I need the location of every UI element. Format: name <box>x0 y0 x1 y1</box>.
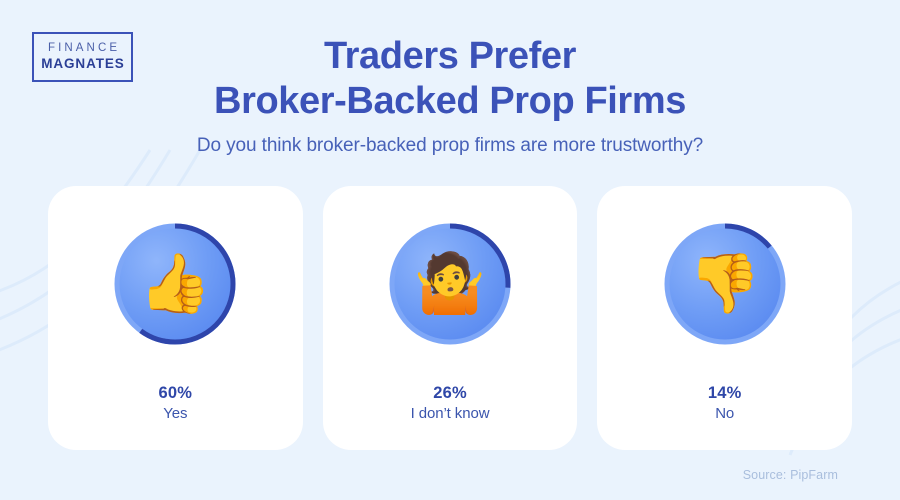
page-title-line-2: Broker-Backed Prop Firms <box>0 79 900 124</box>
thumbs-down-emoji: 👎 <box>660 219 790 349</box>
stat-label-no: No <box>597 404 852 424</box>
page-title-line-1: Traders Prefer <box>324 35 576 77</box>
stat-percent-i-dont-know: 26% <box>323 382 578 404</box>
stat-percent-no: 14% <box>597 382 852 404</box>
stat-text-no: 14% No <box>597 382 852 425</box>
stat-percent-yes: 60% <box>48 382 303 404</box>
donut-gauge-no: 👎 <box>660 219 790 349</box>
infographic-canvas: FINANCE MAGNATES Traders Prefer Broker-B… <box>0 0 900 500</box>
donut-gauge-i-dont-know: 🤷 <box>385 219 515 349</box>
stat-text-i-dont-know: 26% I don’t know <box>323 382 578 425</box>
stat-card-no: 👎 14% No <box>597 186 852 450</box>
donut-gauge-yes: 👍 <box>110 219 240 349</box>
stat-text-yes: 60% Yes <box>48 382 303 425</box>
thumbs-up-emoji: 👍 <box>110 219 240 349</box>
stat-label-i-dont-know: I don’t know <box>323 404 578 424</box>
page-subtitle: Do you think broker-backed prop firms ar… <box>0 135 900 157</box>
stat-label-yes: Yes <box>48 404 303 424</box>
page-title: Traders Prefer Broker-Backed Prop Firms <box>0 34 900 124</box>
person-shrugging-emoji: 🤷 <box>385 219 515 349</box>
stat-card-row: 👍 60% Yes <box>48 186 852 450</box>
stat-card-i-dont-know: 🤷 26% I don’t know <box>323 186 578 450</box>
source-attribution: Source: PipFarm <box>743 468 838 482</box>
stat-card-yes: 👍 60% Yes <box>48 186 303 450</box>
